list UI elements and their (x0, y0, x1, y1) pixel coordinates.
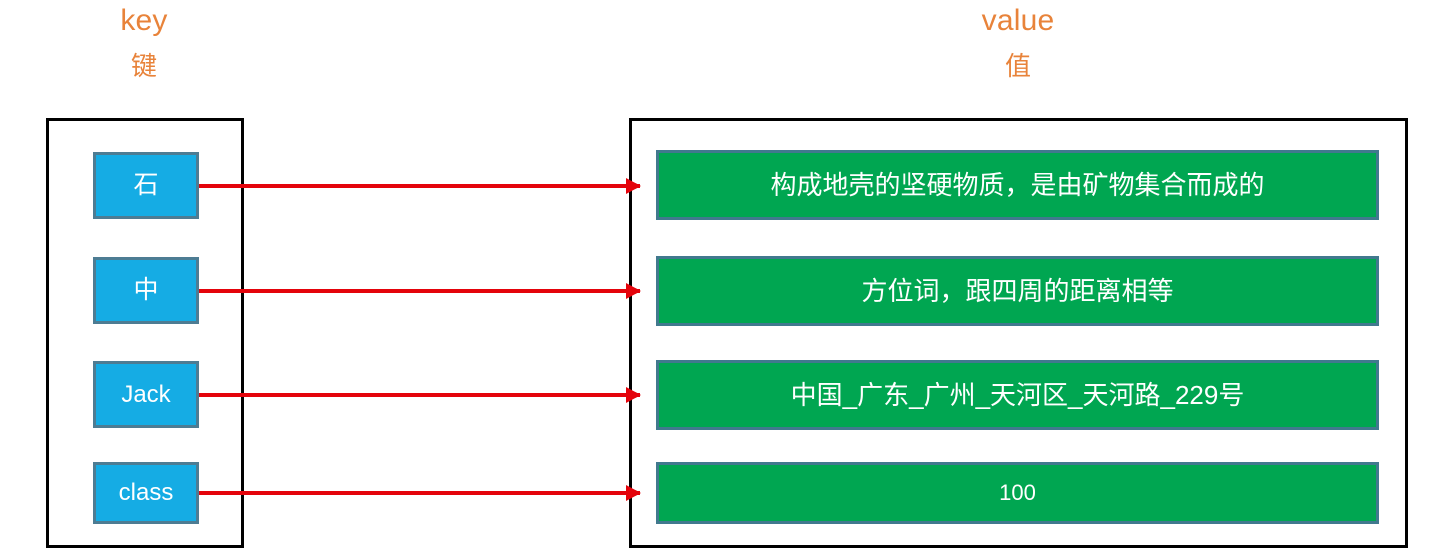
value-box-label: 构成地壳的坚硬物质，是由矿物集合而成的 (770, 172, 1264, 198)
value-box: 中国_广东_广州_天河区_天河路_229号 (656, 360, 1379, 430)
key-box: class (93, 462, 199, 524)
key-box-label: class (119, 481, 174, 505)
key-box-label: Jack (121, 383, 170, 407)
value-heading-latin: value (918, 6, 1118, 36)
key-box: 中 (93, 257, 199, 324)
value-column-heading: value 值 (918, 6, 1118, 79)
key-value-arrow (199, 289, 640, 293)
value-box: 构成地壳的坚硬物质，是由矿物集合而成的 (656, 150, 1379, 220)
key-box: 石 (93, 152, 199, 219)
key-value-mapping-diagram: key 键 value 值 石 中 Jack class 构成地壳的坚硬物质，是… (0, 0, 1441, 560)
value-heading-cjk: 值 (918, 53, 1118, 79)
key-value-arrow (199, 491, 640, 495)
key-value-arrow (199, 184, 640, 188)
key-value-arrow (199, 393, 640, 397)
key-box-label: 石 (133, 173, 158, 198)
key-heading-cjk: 键 (44, 53, 244, 79)
value-box: 100 (656, 462, 1379, 524)
key-column-heading: key 键 (44, 6, 244, 79)
key-box: Jack (93, 361, 199, 428)
key-box-label: 中 (133, 278, 158, 303)
value-box-label: 方位词，跟四周的距离相等 (861, 278, 1173, 304)
value-box-label: 中国_广东_广州_天河区_天河路_229号 (791, 382, 1245, 408)
value-box-label: 100 (999, 482, 1036, 504)
key-heading-latin: key (44, 6, 244, 36)
value-box: 方位词，跟四周的距离相等 (656, 256, 1379, 326)
